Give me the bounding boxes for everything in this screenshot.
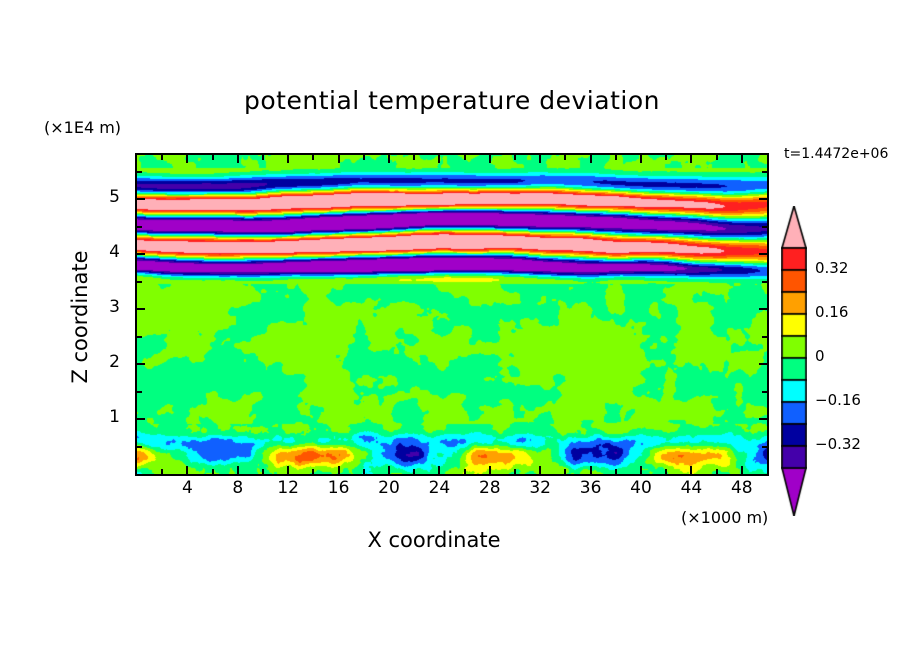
- y-tick-left: [137, 308, 145, 310]
- x-tick-bottom: [262, 469, 264, 474]
- x-tick-bottom: [564, 469, 566, 474]
- x-tick-bottom: [161, 469, 163, 474]
- x-tick-bottom: [338, 466, 340, 474]
- x-tick-bottom: [615, 469, 617, 474]
- x-tick-bottom: [489, 466, 491, 474]
- x-tick-top: [438, 155, 440, 163]
- y-tick-left: [137, 253, 145, 255]
- y-tick-left: [137, 171, 142, 173]
- x-tick-top: [464, 155, 466, 160]
- x-tick-top: [287, 155, 289, 163]
- colorbar-tick-label: −0.32: [815, 435, 861, 453]
- x-tick-top: [690, 155, 692, 163]
- x-tick-label: 24: [419, 478, 459, 498]
- y-tick-label: 3: [96, 297, 120, 317]
- contour-plot-figure: potential temperature deviation (×1E4 m)…: [0, 0, 904, 654]
- x-tick-bottom: [186, 466, 188, 474]
- x-tick-label: 28: [470, 478, 510, 498]
- y-tick-left: [137, 418, 145, 420]
- x-tick-top: [338, 155, 340, 163]
- x-tick-bottom: [716, 469, 718, 474]
- y-tick-right: [759, 418, 767, 420]
- x-tick-bottom: [413, 469, 415, 474]
- x-tick-top: [665, 155, 667, 160]
- x-tick-label: 44: [671, 478, 711, 498]
- x-tick-top: [564, 155, 566, 160]
- x-tick-top: [161, 155, 163, 160]
- x-tick-bottom: [237, 466, 239, 474]
- page-title: potential temperature deviation: [0, 86, 904, 115]
- x-tick-label: 20: [369, 478, 409, 498]
- x-tick-bottom: [640, 466, 642, 474]
- y-tick-left: [137, 446, 142, 448]
- x-tick-top: [590, 155, 592, 163]
- y-tick-right: [762, 226, 767, 228]
- y-tick-label: 2: [96, 352, 120, 372]
- y-tick-left: [137, 363, 145, 365]
- colorbar: [781, 206, 807, 516]
- y-tick-right: [759, 363, 767, 365]
- x-tick-bottom: [514, 469, 516, 474]
- x-tick-bottom: [363, 469, 365, 474]
- y-tick-left: [137, 226, 142, 228]
- y-tick-left: [137, 198, 145, 200]
- y-tick-right: [762, 281, 767, 283]
- x-tick-label: 16: [319, 478, 359, 498]
- time-annotation: t=1.4472e+06: [784, 146, 888, 162]
- x-tick-top: [489, 155, 491, 163]
- x-tick-bottom: [464, 469, 466, 474]
- x-tick-top: [388, 155, 390, 163]
- x-tick-top: [539, 155, 541, 163]
- x-tick-top: [186, 155, 188, 163]
- y-tick-label: 5: [96, 187, 120, 207]
- y-tick-right: [759, 198, 767, 200]
- x-tick-bottom: [438, 466, 440, 474]
- x-tick-top: [741, 155, 743, 163]
- x-tick-top: [212, 155, 214, 160]
- x-tick-bottom: [212, 469, 214, 474]
- x-tick-bottom: [539, 466, 541, 474]
- y-tick-right: [759, 308, 767, 310]
- y-tick-right: [762, 446, 767, 448]
- x-tick-label: 40: [621, 478, 661, 498]
- colorbar-tick-label: 0.16: [815, 303, 848, 321]
- x-tick-label: 8: [218, 478, 258, 498]
- x-tick-top: [262, 155, 264, 160]
- x-tick-top: [312, 155, 314, 160]
- x-tick-top: [514, 155, 516, 160]
- x-tick-bottom: [741, 466, 743, 474]
- y-tick-right: [759, 253, 767, 255]
- y-tick-left: [137, 336, 142, 338]
- y-axis-units: (×1E4 m): [44, 118, 121, 137]
- x-axis-units: (×1000 m): [681, 508, 768, 527]
- x-tick-label: 32: [520, 478, 560, 498]
- colorbar-tick-label: −0.16: [815, 391, 861, 409]
- x-tick-label: 48: [722, 478, 762, 498]
- x-tick-top: [413, 155, 415, 160]
- plot-frame: [135, 153, 769, 476]
- x-tick-label: 4: [167, 478, 207, 498]
- y-tick-label: 1: [96, 407, 120, 427]
- y-tick-right: [762, 391, 767, 393]
- y-tick-right: [762, 336, 767, 338]
- colorbar-tick-label: 0.32: [815, 259, 848, 277]
- y-axis-label: Z coordinate: [68, 217, 92, 417]
- x-tick-bottom: [665, 469, 667, 474]
- x-tick-top: [363, 155, 365, 160]
- x-axis-label: X coordinate: [234, 528, 634, 552]
- x-tick-top: [640, 155, 642, 163]
- y-tick-left: [137, 281, 142, 283]
- x-tick-bottom: [590, 466, 592, 474]
- x-tick-top: [615, 155, 617, 160]
- x-tick-label: 12: [268, 478, 308, 498]
- x-tick-bottom: [287, 466, 289, 474]
- x-tick-bottom: [388, 466, 390, 474]
- y-tick-left: [137, 391, 142, 393]
- x-tick-bottom: [312, 469, 314, 474]
- y-tick-right: [762, 171, 767, 173]
- x-tick-label: 36: [571, 478, 611, 498]
- y-tick-label: 4: [96, 242, 120, 262]
- x-tick-top: [716, 155, 718, 160]
- colorbar-tick-label: 0: [815, 347, 825, 365]
- x-tick-bottom: [690, 466, 692, 474]
- x-tick-top: [237, 155, 239, 163]
